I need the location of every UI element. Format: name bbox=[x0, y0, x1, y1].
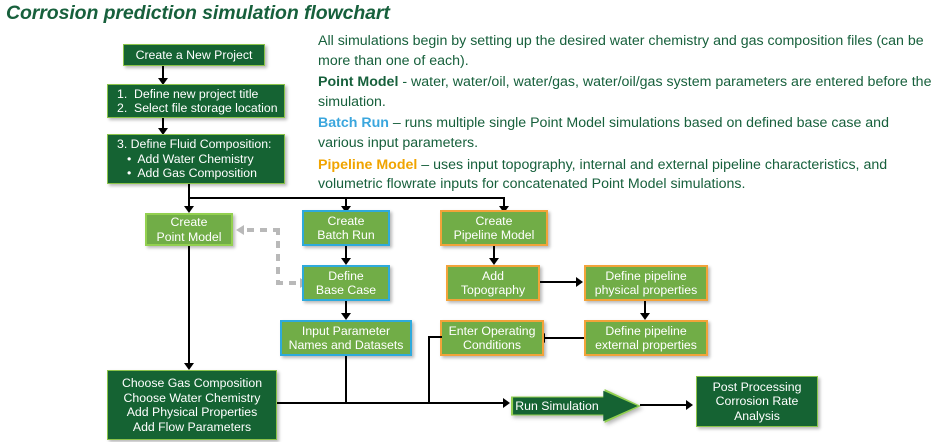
node-choose-line4: Add Flow Parameters bbox=[133, 420, 251, 435]
node-input-parameter-line2: Names and Datasets bbox=[289, 338, 404, 353]
batch-run-label: Batch Run bbox=[318, 115, 389, 131]
node-pipeline-external-line2: external properties bbox=[595, 338, 697, 353]
batch-run-text: – runs multiple single Point Model simul… bbox=[318, 115, 889, 151]
node-create-batch-run[interactable]: Create Batch Run bbox=[302, 210, 390, 246]
pipeline-model-label: Pipeline Model bbox=[318, 157, 417, 173]
node-pipeline-physical-line2: physical properties bbox=[595, 283, 698, 298]
connector-input-parameter-to-bottom-bus bbox=[345, 356, 347, 403]
fluid-bullet-2: • Add Gas Composition bbox=[117, 166, 257, 181]
node-create-pipeline-model-line2: Pipeline Model bbox=[454, 228, 535, 243]
dashed-segment-bottom bbox=[276, 281, 302, 285]
description-intro-text: All simulations begin by setting up the … bbox=[318, 33, 924, 69]
description-point-model: Point Model - water, water/oil, water/ga… bbox=[318, 73, 936, 112]
connector-bottom-bus bbox=[277, 402, 505, 404]
node-create-pipeline-model-line1: Create bbox=[476, 214, 513, 229]
fluid-bullet-1-label: Add Water Chemistry bbox=[137, 152, 253, 167]
project-step-2-label: Select file storage location bbox=[134, 101, 278, 116]
connector-external-to-operating bbox=[545, 337, 584, 339]
arrowhead-bus-to-run-simulation bbox=[503, 398, 510, 408]
bullet-glyph-icon-2: • bbox=[127, 166, 131, 181]
node-define-base-case[interactable]: Define Base Case bbox=[302, 265, 390, 301]
node-enter-operating-line1: Enter Operating bbox=[449, 324, 536, 339]
arrowhead-bus-to-point-model bbox=[184, 206, 194, 213]
node-post-line1: Post Processing bbox=[713, 380, 802, 395]
bullet-glyph-icon: • bbox=[127, 152, 131, 167]
project-step-2-number: 2. bbox=[117, 101, 134, 116]
node-create-batch-run-line1: Create bbox=[328, 214, 365, 229]
node-create-point-model-line1: Create bbox=[171, 215, 208, 230]
node-run-simulation[interactable]: Run Simulation bbox=[511, 389, 641, 423]
node-define-base-case-line2: Base Case bbox=[316, 283, 376, 298]
arrowhead-physical-to-external bbox=[640, 313, 650, 320]
point-model-label: Point Model bbox=[318, 74, 398, 90]
project-step-1: 1. Define new project title bbox=[117, 87, 258, 102]
arrowhead-pipeline-model-to-topography bbox=[489, 258, 499, 265]
fluid-bullet-1: • Add Water Chemistry bbox=[117, 152, 254, 167]
node-input-parameter[interactable]: Input Parameter Names and Datasets bbox=[280, 320, 412, 356]
node-pipeline-physical-line1: Define pipeline bbox=[605, 269, 686, 284]
node-post-line3: Analysis bbox=[734, 409, 780, 424]
node-define-base-case-line1: Define bbox=[328, 269, 364, 284]
node-create-point-model-line2: Point Model bbox=[157, 230, 222, 245]
fluid-header: 3. Define Fluid Composition: bbox=[117, 137, 271, 152]
node-create-pipeline-model[interactable]: Create Pipeline Model bbox=[440, 210, 548, 246]
node-create-batch-run-line2: Batch Run bbox=[317, 228, 374, 243]
connector-point-model-to-choose bbox=[188, 246, 190, 364]
node-choose-inputs[interactable]: Choose Gas Composition Choose Water Chem… bbox=[107, 370, 277, 440]
node-create-point-model[interactable]: Create Point Model bbox=[145, 213, 233, 246]
node-choose-line3: Add Physical Properties bbox=[127, 405, 258, 420]
project-step-1-number: 1. bbox=[117, 87, 134, 102]
point-model-text: - water, water/oil, water/gas, water/oil… bbox=[318, 74, 931, 110]
project-step-1-label: Define new project title bbox=[134, 87, 258, 102]
node-add-topography-line2: Topography bbox=[461, 283, 525, 298]
node-project-steps[interactable]: 1. Define new project title 2. Select fi… bbox=[107, 84, 285, 118]
description-panel: All simulations begin by setting up the … bbox=[318, 32, 936, 197]
connector-run-simulation-to-post bbox=[640, 404, 688, 406]
description-batch-run: Batch Run – runs multiple single Point M… bbox=[318, 114, 936, 153]
fluid-bullet-2-label: Add Gas Composition bbox=[137, 166, 257, 181]
arrowhead-point-model-to-choose bbox=[184, 363, 194, 370]
node-pipeline-external-properties[interactable]: Define pipeline external properties bbox=[584, 320, 708, 356]
node-create-new-project[interactable]: Create a New Project bbox=[123, 44, 265, 66]
arrowhead-batch-run-to-base-case bbox=[341, 258, 351, 265]
node-create-new-project-label: Create a New Project bbox=[136, 48, 253, 63]
node-post-line2: Corrosion Rate bbox=[716, 394, 799, 409]
arrowhead-topography-to-physical bbox=[576, 277, 583, 287]
node-input-parameter-line1: Input Parameter bbox=[302, 324, 390, 339]
node-choose-line2: Choose Water Chemistry bbox=[124, 391, 261, 406]
dashed-arrowhead-to-point-model bbox=[236, 225, 244, 235]
node-post-processing[interactable]: Post Processing Corrosion Rate Analysis bbox=[696, 376, 818, 427]
connector-topography-to-physical bbox=[540, 281, 578, 283]
node-pipeline-external-line1: Define pipeline bbox=[605, 324, 686, 339]
node-choose-line1: Choose Gas Composition bbox=[122, 376, 262, 391]
description-intro: All simulations begin by setting up the … bbox=[318, 32, 936, 71]
arrowhead-base-case-to-input-parameter bbox=[341, 313, 351, 320]
flowchart-canvas: Corrosion prediction simulation flowchar… bbox=[0, 0, 941, 442]
description-pipeline-model: Pipeline Model – uses input topography, … bbox=[318, 156, 936, 195]
node-add-topography-line1: Add bbox=[482, 269, 504, 284]
fluid-header-label: 3. Define Fluid Composition: bbox=[117, 137, 271, 152]
project-step-2: 2. Select file storage location bbox=[117, 101, 278, 116]
node-enter-operating-line2: Conditions bbox=[463, 338, 521, 353]
node-add-topography[interactable]: Add Topography bbox=[446, 265, 540, 301]
node-pipeline-physical-properties[interactable]: Define pipeline physical properties bbox=[584, 265, 708, 301]
dashed-segment-vertical bbox=[276, 228, 280, 283]
connector-operating-down-leg bbox=[428, 336, 430, 403]
page-title: Corrosion prediction simulation flowchar… bbox=[6, 2, 390, 25]
node-run-simulation-label: Run Simulation bbox=[511, 389, 603, 423]
node-define-fluid-composition[interactable]: 3. Define Fluid Composition: • Add Water… bbox=[107, 134, 285, 184]
dashed-segment-top bbox=[247, 228, 279, 232]
node-enter-operating-conditions[interactable]: Enter Operating Conditions bbox=[440, 320, 544, 356]
arrowhead-run-simulation-to-post bbox=[686, 400, 693, 410]
